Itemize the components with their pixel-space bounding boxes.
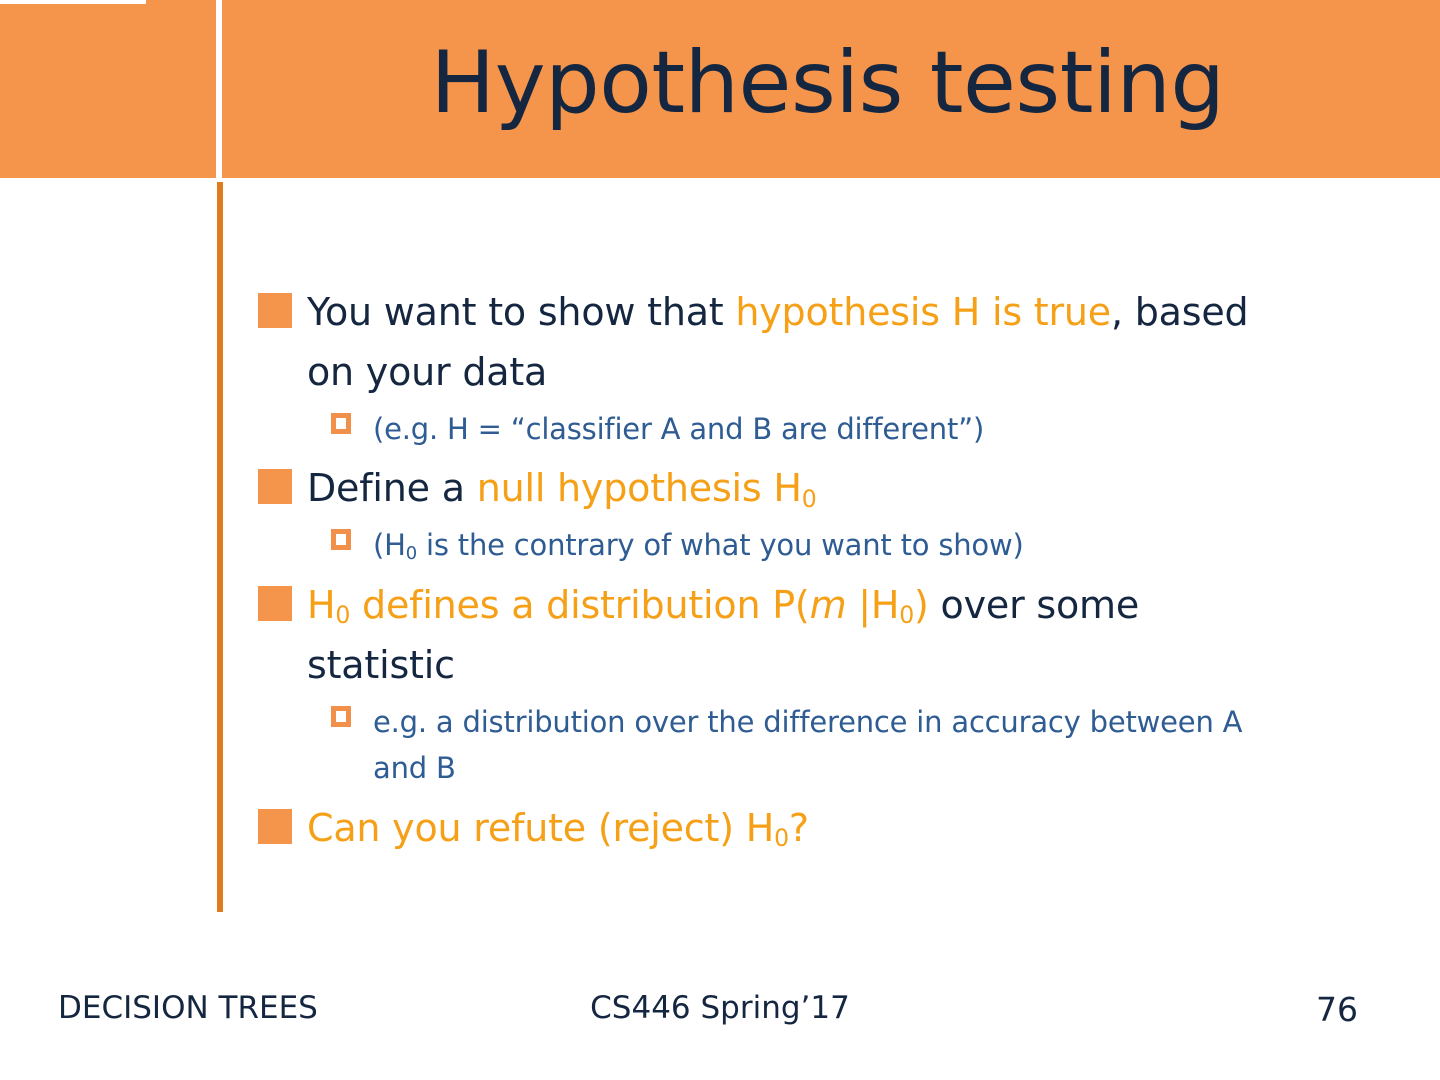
bullet-3-h-subscript: 0 (335, 601, 350, 629)
sub-bullet-item-3-1-text: e.g. a distribution over the difference … (373, 699, 1265, 792)
bullet-item-2: Define a null hypothesis H0 (255, 458, 1265, 518)
slide-header-band: Hypothesis testing (0, 0, 1440, 178)
sub-bullet-1-1-segment: (e.g. H = “classifier A and B are differ… (373, 412, 984, 446)
sub-bullet-2-1-subscript: 0 (406, 543, 417, 564)
hollow-square-bullet-icon (331, 413, 351, 434)
bullet-item-2-text: Define a null hypothesis H0 (307, 458, 1265, 518)
bullet-item-3-text: H0 defines a distribution P(m |H0) over … (307, 575, 1265, 695)
bullet-3-segment-bar-h: |H0 (846, 583, 914, 627)
bullet-2-segment-pre: Define a (307, 466, 477, 510)
bullet-4-subscript: 0 (774, 824, 789, 852)
bullet-2-highlight-subscript: 0 (802, 485, 817, 513)
bullet-3-segment-close-paren: ) (914, 583, 929, 627)
bullet-3-h-base: H (307, 583, 335, 627)
bullet-3-bar-base: |H (846, 583, 899, 627)
slide: Hypothesis testing You want to show that… (0, 0, 1440, 1080)
bullet-4-question-mark: ? (789, 806, 809, 850)
sub-bullet-2-1-segment-b: is the contrary of what you want to show… (417, 528, 1024, 562)
content-accent-rule (217, 182, 223, 912)
bullet-3-segment-mid: defines a distribution P( (350, 583, 809, 627)
bullet-2-segment-highlight: null hypothesis H0 (477, 466, 817, 510)
bullet-2-highlight-base: null hypothesis H (477, 466, 802, 510)
page-title: Hypothesis testing (240, 36, 1415, 131)
bullet-item-1-text: You want to show that hypothesis H is tr… (307, 282, 1265, 402)
bullet-item-3: H0 defines a distribution P(m |H0) over … (255, 575, 1265, 695)
hollow-square-bullet-icon (331, 529, 351, 550)
sub-bullet-item-3-1: e.g. a distribution over the difference … (255, 699, 1265, 792)
bullet-3-segment-h0: H0 (307, 583, 350, 627)
sub-bullet-item-1-1-text: (e.g. H = “classifier A and B are differ… (373, 406, 1265, 452)
sub-bullet-item-1-1: (e.g. H = “classifier A and B are differ… (255, 406, 1265, 452)
footer-course-label: CS446 Spring’17 (0, 990, 1440, 1026)
filled-square-bullet-icon (258, 293, 292, 328)
bullet-3-bar-subscript: 0 (899, 601, 914, 629)
slide-page-number: 76 (1316, 990, 1358, 1029)
slide-body: You want to show that hypothesis H is tr… (255, 282, 1265, 860)
filled-square-bullet-icon (258, 469, 292, 504)
sub-bullet-2-1-segment-a: (H (373, 528, 406, 562)
slide-footer: DECISION TREES CS446 Spring’17 76 (0, 990, 1440, 1050)
sub-bullet-item-2-1: (H0 is the contrary of what you want to … (255, 522, 1265, 568)
bullet-1-segment-highlight: hypothesis H is true (735, 290, 1111, 334)
bullet-1-segment-pre: You want to show that (307, 290, 735, 334)
sub-bullet-3-1-segment: e.g. a distribution over the difference … (373, 705, 1242, 785)
bullet-item-4: Can you refute (reject) H0? (255, 798, 1265, 858)
bullet-3-segment-variable-m: m (810, 583, 847, 627)
sub-bullet-item-2-1-text: (H0 is the contrary of what you want to … (373, 522, 1265, 568)
header-top-notch (0, 0, 146, 4)
filled-square-bullet-icon (258, 586, 292, 621)
bullet-item-4-text: Can you refute (reject) H0? (307, 798, 1265, 858)
filled-square-bullet-icon (258, 809, 292, 844)
bullet-4-segment-main: Can you refute (reject) H0? (307, 806, 809, 850)
hollow-square-bullet-icon (331, 706, 351, 727)
header-vertical-divider (216, 0, 222, 178)
bullet-4-base: Can you refute (reject) H (307, 806, 774, 850)
bullet-item-1: You want to show that hypothesis H is tr… (255, 282, 1265, 402)
